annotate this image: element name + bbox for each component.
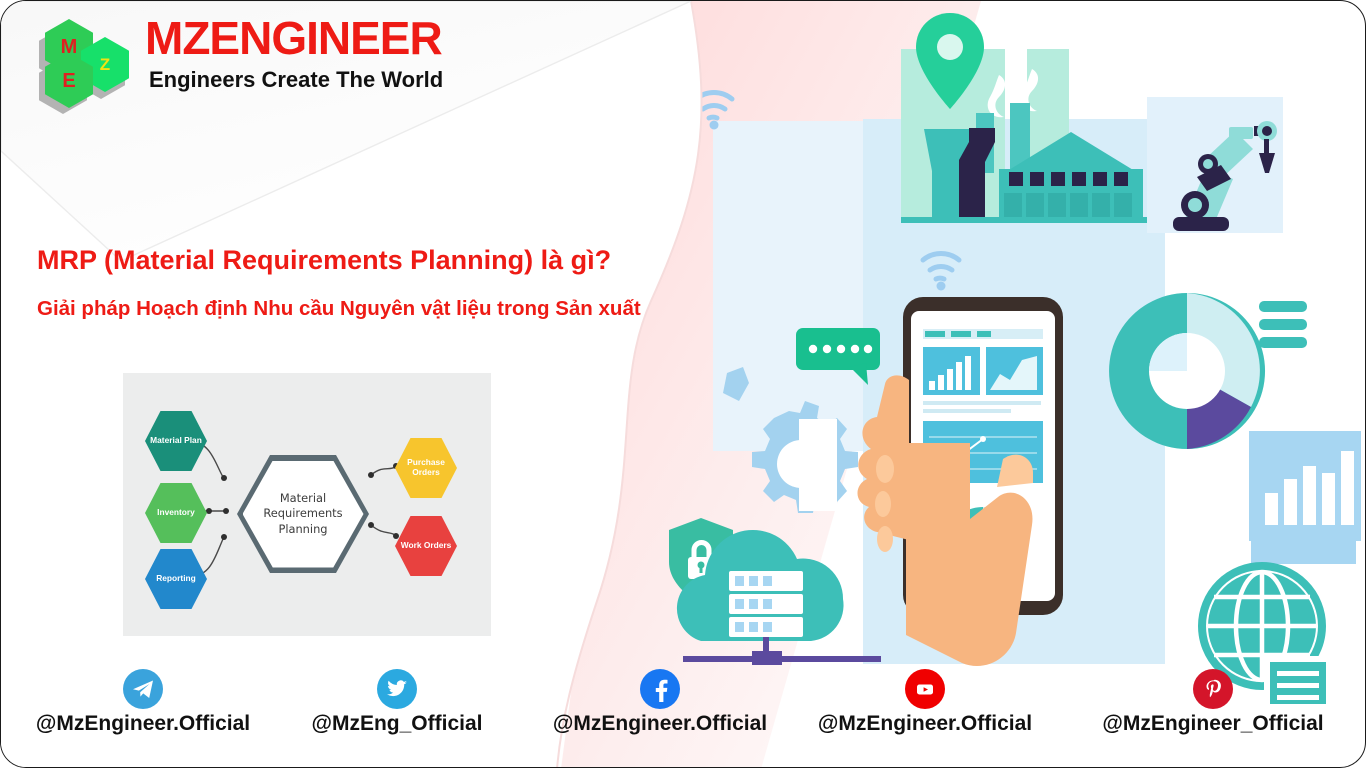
social-footer: @MzEngineer.Official @MzEng_Official @Mz… bbox=[1, 669, 1366, 761]
bar-chart-icon bbox=[1249, 431, 1361, 541]
social-handle: @MzEng_Official bbox=[312, 712, 483, 736]
wifi-icon-dot bbox=[937, 282, 946, 291]
brand-tagline: Engineers Create The World bbox=[149, 67, 443, 93]
mrp-center-label: Material Requirements Planning bbox=[243, 461, 364, 568]
twitter-icon[interactable] bbox=[377, 669, 417, 709]
poster-canvas: M Z E MZENGINEER MZENGINEER Engineers Cr… bbox=[0, 0, 1366, 768]
brand-logo: M Z E MZENGINEER MZENGINEER Engineers Cr… bbox=[25, 7, 505, 111]
mrp-output-label: Work Orders bbox=[401, 541, 452, 551]
page-subtitle: Giải pháp Hoạch định Nhu cầu Nguyên vật … bbox=[37, 297, 757, 321]
logo-hexagons: M Z E bbox=[33, 11, 137, 111]
robot-arm-icon bbox=[1147, 97, 1283, 233]
wifi-icon-dot bbox=[710, 121, 719, 130]
social-item-facebook[interactable]: @MzEngineer.Official bbox=[536, 669, 784, 736]
mrp-input-label: Reporting bbox=[156, 574, 196, 584]
social-handle: @MzEngineer.Official bbox=[36, 712, 250, 736]
brand-name-text: MZENGINEER bbox=[145, 12, 442, 64]
social-item-youtube[interactable]: @MzEngineer.Official bbox=[801, 669, 1049, 736]
telegram-icon[interactable] bbox=[123, 669, 163, 709]
mrp-diagram: Material Plan Inventory Reporting Materi… bbox=[123, 373, 491, 636]
facebook-icon[interactable] bbox=[640, 669, 680, 709]
pinterest-icon[interactable] bbox=[1193, 669, 1233, 709]
social-handle: @MzEngineer.Official bbox=[818, 712, 1032, 736]
mrp-input-label: Material Plan bbox=[150, 436, 202, 446]
hamburger-menu-icon bbox=[1259, 301, 1307, 348]
social-item-twitter[interactable]: @MzEng_Official bbox=[273, 669, 521, 736]
page-title: MRP (Material Requirements Planning) là … bbox=[37, 245, 757, 276]
social-handle: @MzEngineer_Official bbox=[1102, 712, 1323, 736]
mrp-output-label: Purchase Orders bbox=[395, 458, 457, 478]
donut-chart-icon bbox=[1109, 293, 1265, 449]
social-item-pinterest[interactable]: @MzEngineer_Official bbox=[1089, 669, 1337, 736]
social-item-telegram[interactable]: @MzEngineer.Official bbox=[19, 669, 267, 736]
youtube-icon[interactable] bbox=[905, 669, 945, 709]
mrp-input-label: Inventory bbox=[157, 508, 195, 518]
headline-block: MRP (Material Requirements Planning) là … bbox=[37, 245, 757, 321]
brand-name: MZENGINEER MZENGINEER bbox=[145, 11, 442, 65]
social-handle: @MzEngineer.Official bbox=[553, 712, 767, 736]
